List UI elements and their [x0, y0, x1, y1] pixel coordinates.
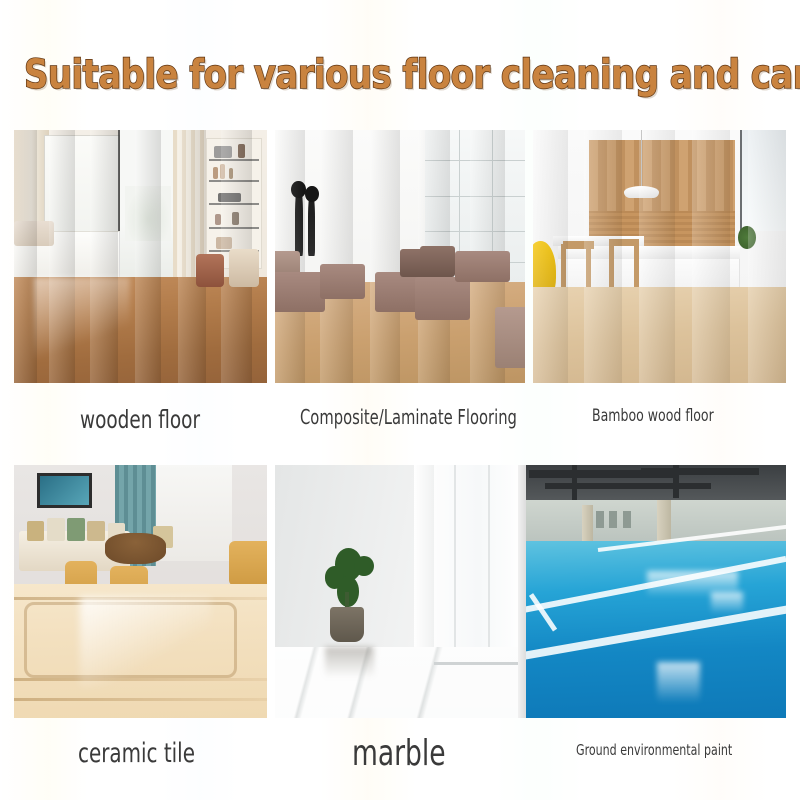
ceramic-tile-photo	[14, 465, 267, 718]
laminate-flooring-photo	[275, 130, 525, 383]
panel-bamboo-wood-floor	[533, 130, 786, 383]
caption-ceramic-tile: ceramic tile	[78, 738, 195, 769]
bamboo-floor-photo	[533, 130, 786, 383]
caption-marble: marble	[352, 733, 446, 774]
caption-ground-environmental-paint: Ground environmental paint	[576, 741, 732, 759]
banner-page: Suitable for various floor cleaning and …	[0, 0, 800, 800]
wooden-floor-photo	[14, 130, 267, 383]
marble-floor-photo	[275, 465, 523, 718]
caption-wooden-floor: wooden floor	[80, 405, 200, 434]
epoxy-floor-photo	[518, 465, 786, 718]
page-title: Suitable for various floor cleaning and …	[24, 52, 776, 98]
panel-wooden-floor	[14, 130, 267, 383]
caption-composite-laminate-flooring: Composite/Laminate Flooring	[300, 405, 517, 429]
panel-ground-environmental-paint	[518, 465, 786, 718]
panel-ceramic-tile	[14, 465, 267, 718]
caption-bamboo-wood-floor: Bamboo wood floor	[592, 406, 714, 426]
panel-composite-laminate-flooring	[275, 130, 525, 383]
panel-marble	[275, 465, 523, 718]
